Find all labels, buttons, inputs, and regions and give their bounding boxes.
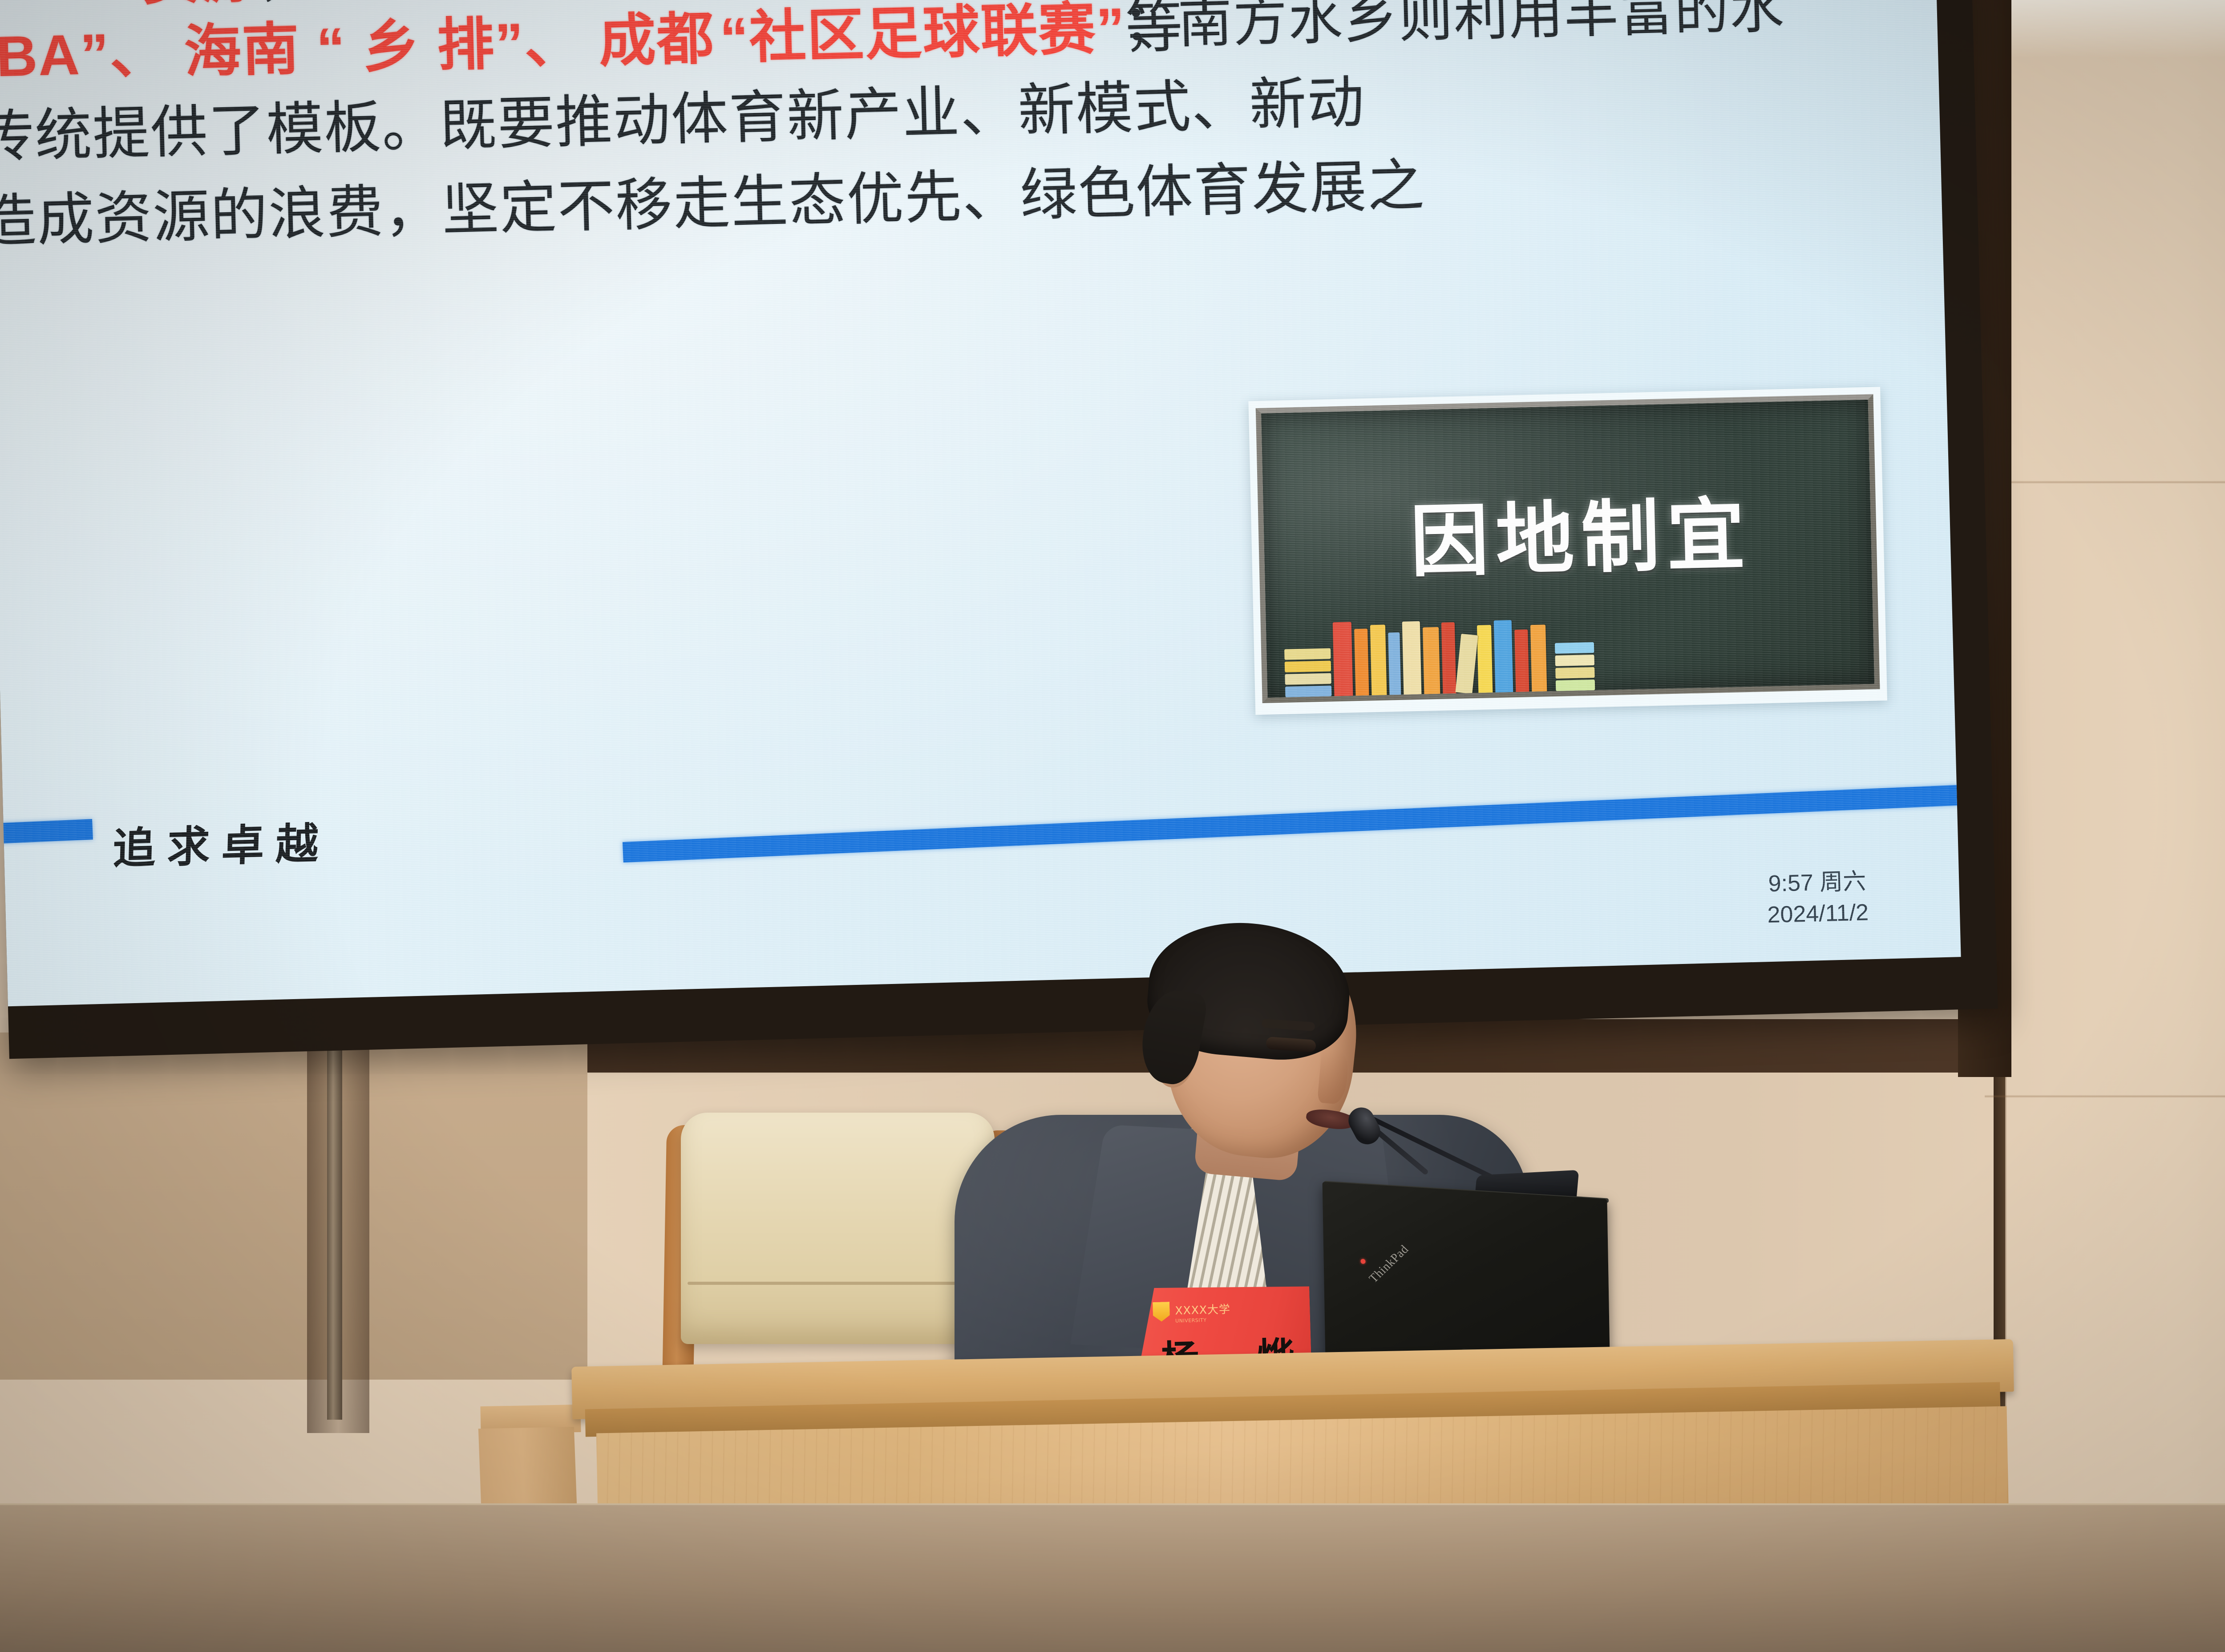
book <box>1514 629 1529 692</box>
chalkboard: 因地制宜 <box>1256 394 1880 703</box>
book <box>1285 660 1331 672</box>
floor <box>0 1505 2225 1652</box>
chair-seam <box>688 1282 981 1285</box>
book-stack <box>1284 648 1331 697</box>
slide-red-phrase: 村 BA”、 海南 “ 乡 排”、 成都 <box>0 7 716 90</box>
slide-text-row: 化传统提供了模板。既要推动体育新产业、新模式、新动 <box>0 74 1366 167</box>
slide-text-row: 村 BA”、 海南 “ 乡 排”、 成都“社区足球联赛”等 <box>0 0 1184 87</box>
footer-accent-bar-left <box>0 819 93 843</box>
slide-black-text: 及造成资源的浪费，坚定不移走生态优先、绿色体育发展之 <box>0 154 1426 255</box>
laptop-brand-logo: ThinkPad <box>1366 1242 1412 1285</box>
chalkboard-headline: 因地制宜 <box>1409 471 1753 592</box>
book <box>1370 625 1387 696</box>
wall-seam-horizontal <box>1985 1095 2225 1098</box>
book <box>1388 632 1401 695</box>
metal-post <box>327 1037 342 1420</box>
book <box>1555 667 1595 679</box>
slide-black-text: 化传统提供了模板。既要推动体育新产业、新模式、新动 <box>0 70 1366 170</box>
lecture-hall-photo: 资源，大力发展冰雪运动；南方水乡则利用丰富的水 村 BA”、 海南 “ 乡 排”… <box>0 0 2225 1652</box>
book <box>1284 648 1331 660</box>
slide-text-row: 及造成资源的浪费，坚定不移走生态优先、绿色体育发展之 <box>0 157 1426 252</box>
microphone-capsule <box>1344 1103 1385 1149</box>
book <box>1402 621 1422 695</box>
book <box>1530 624 1547 692</box>
laptop-logo-dot <box>1360 1259 1365 1264</box>
slide-footer-motto: 追求卓越 <box>112 809 331 876</box>
chalkboard-image: 因地制宜 <box>1248 387 1887 715</box>
slide-clock-time: 9:57 周六 <box>1766 866 1868 899</box>
footer-accent-bar-right <box>623 781 1961 862</box>
slide-red-phrase: 资源 <box>142 0 259 12</box>
slide-black-text: ；南方水乡则利用丰富的水 <box>1122 0 1785 55</box>
book <box>1555 642 1594 654</box>
slide-text-row: ；南方水乡则利用丰富的水 <box>1122 0 1785 52</box>
book <box>1333 622 1353 696</box>
book <box>1285 673 1331 684</box>
name-card-org-label: XXXX大学 <box>1175 1303 1230 1317</box>
slide-content: 资源，大力发展冰雪运动；南方水乡则利用丰富的水 村 BA”、 海南 “ 乡 排”… <box>0 0 1961 1006</box>
book-row <box>1284 614 1595 697</box>
book <box>1423 627 1440 694</box>
book <box>1354 628 1369 696</box>
left-wall-lower <box>0 1032 587 1380</box>
projection-screen: 资源，大力发展冰雪运动；南方水乡则利用丰富的水 村 BA”、 海南 “ 乡 排”… <box>0 0 1961 1006</box>
book <box>1555 655 1595 666</box>
book <box>1441 622 1456 694</box>
projection-screen-frame: 资源，大力发展冰雪运动；南方水乡则利用丰富的水 村 BA”、 海南 “ 乡 排”… <box>0 0 1998 1059</box>
chair-backrest <box>681 1113 995 1344</box>
slide-clock: 9:57 周六 2024/11/2 <box>1766 866 1869 931</box>
book <box>1494 620 1513 692</box>
book-stack <box>1555 642 1595 691</box>
slide-clock-date: 2024/11/2 <box>1767 897 1869 931</box>
book <box>1455 634 1478 694</box>
name-card-org: XXXX大学 UNIVERSITY <box>1175 1300 1231 1324</box>
book <box>1477 625 1493 693</box>
book <box>1285 685 1332 697</box>
wall-seam-horizontal <box>2002 481 2225 484</box>
book <box>1556 680 1595 691</box>
